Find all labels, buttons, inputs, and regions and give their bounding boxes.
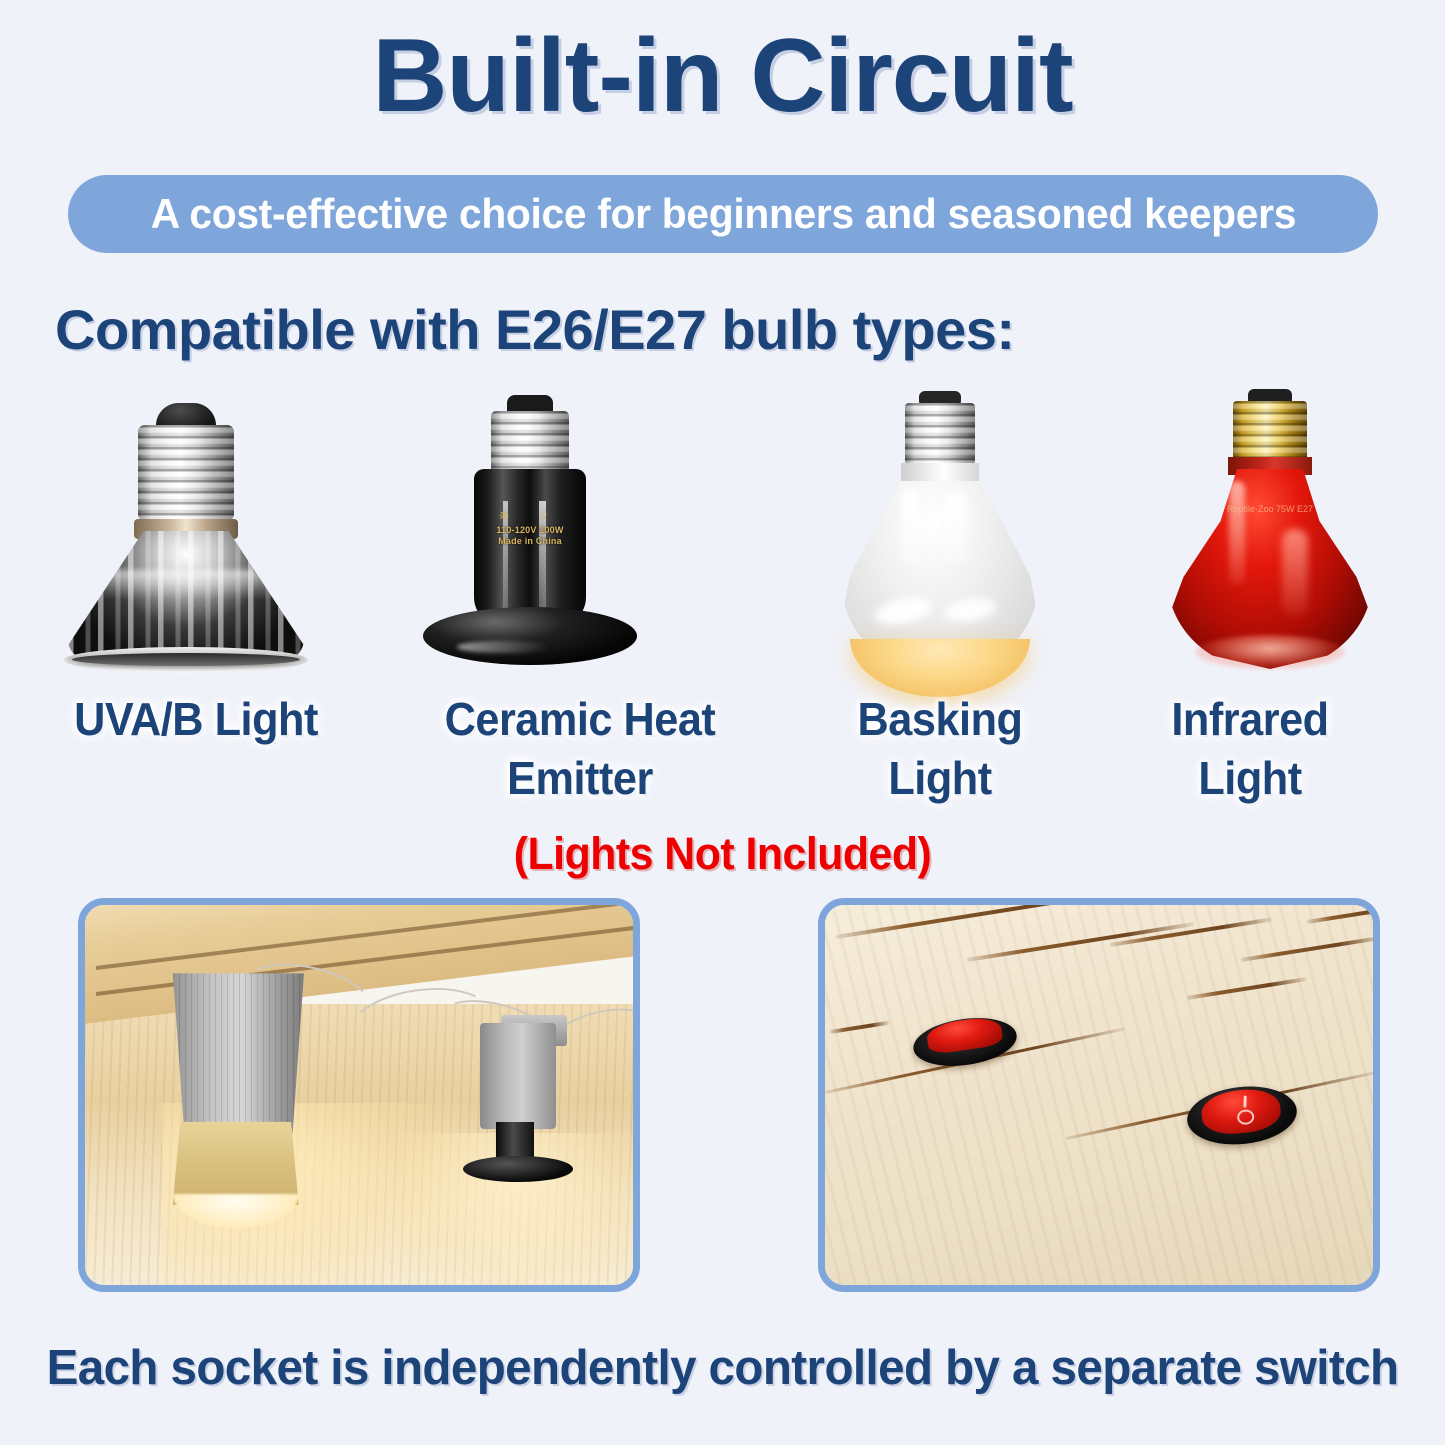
emitter-base-icon [463, 1156, 573, 1183]
infrared-printed-brand: Reptile·Zoo 75W E27 [1205, 503, 1335, 517]
subtitle-banner: A cost-effective choice for beginners an… [68, 175, 1378, 253]
e27-screw-base-icon [138, 425, 234, 521]
uvab-reflector-bulb-icon [36, 385, 336, 685]
warm-glow-icon [850, 639, 1030, 697]
compatibility-heading: Compatible with E26/E27 bulb types: [55, 297, 1015, 362]
ceramic-base-plate-icon [423, 607, 637, 665]
page-title: Built-in Circuit [0, 22, 1445, 131]
subtitle-text: A cost-effective choice for beginners an… [150, 190, 1295, 238]
bulb-label-uvab: UVA/B Light [27, 690, 365, 749]
photo-content [825, 905, 1373, 1285]
footer-caption: Each socket is independently controlled … [22, 1340, 1424, 1396]
ceramic-voltage-text: 110-120V 100W [496, 525, 563, 535]
chrome-reflector-icon [68, 531, 304, 661]
glass-highlight-icon [942, 594, 997, 625]
installed-bulb-icon [173, 1122, 299, 1206]
e27-screw-base-icon [491, 411, 569, 473]
rocker-switch-icon [1184, 1082, 1299, 1150]
switch-on-marking-icon [1243, 1096, 1246, 1108]
e27-gold-screw-base-icon [1233, 401, 1307, 461]
rocker-switches-photo [818, 898, 1380, 1292]
switch-off-marking-icon [1236, 1109, 1254, 1126]
ceramic-origin-text: Made in China [498, 536, 562, 546]
ceramic-socket-icon [167, 973, 309, 1133]
basking-bulb-icon [790, 385, 1090, 685]
glass-highlight-icon [873, 593, 935, 629]
bulb-label-ceramic: Ceramic Heat Emitter [411, 690, 749, 808]
ceramic-printed-label: 110-120V 100W Made in China [470, 525, 590, 548]
bulb-type-row: ⎈ ⚱ 110-120V 100W Made in China Reptile·… [0, 385, 1445, 685]
e27-screw-base-icon [905, 403, 975, 465]
photo-content [85, 905, 633, 1285]
ceramic-body-icon [474, 469, 586, 627]
ceramic-heat-emitter-icon: ⎈ ⚱ 110-120V 100W Made in China [380, 385, 680, 685]
bulb-label-basking: Basking Light [808, 690, 1071, 808]
lights-not-included-note: (Lights Not Included) [36, 828, 1409, 880]
ceramic-socket-icon [480, 1023, 557, 1129]
sockets-installed-photo [78, 898, 640, 1292]
bulb-label-infrared: Infrared Light [1118, 690, 1381, 808]
reflector-rim-icon [64, 647, 308, 673]
infrared-glow-icon [1195, 635, 1345, 669]
ce-mark-icon: ⎈ ⚱ [470, 507, 590, 523]
infrared-bulb-icon: Reptile·Zoo 75W E27 [1120, 385, 1420, 685]
